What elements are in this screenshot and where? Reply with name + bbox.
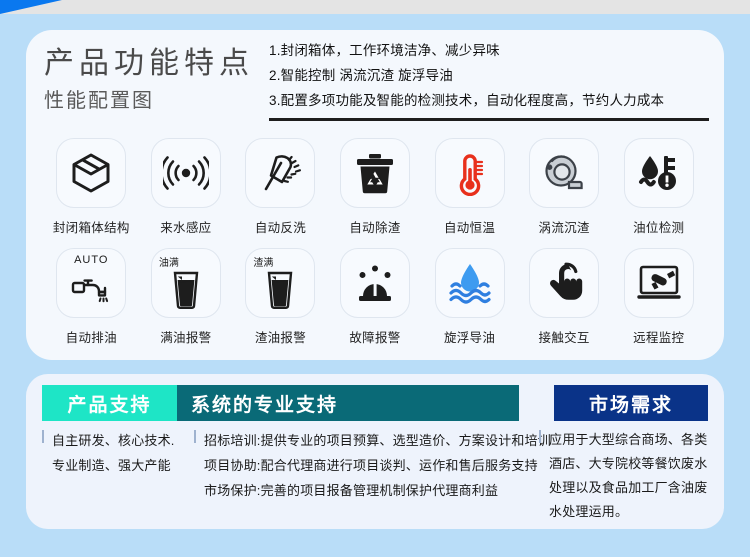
feature-tile[interactable]: AUTO <box>56 248 126 318</box>
feature-tile[interactable] <box>56 138 126 208</box>
card-header: 产品功能特点 性能配置图 1.封闭箱体，工作环境洁净、减少异味 2.智能控制 涡… <box>26 30 724 136</box>
support-columns: 自主研发、核心技术. 专业制造、强大产能 招标培训:提供专业的项目预算、选型造价… <box>42 428 714 523</box>
monitor-camera-icon <box>636 263 682 303</box>
feature-item[interactable]: 自动除渣 <box>340 138 410 248</box>
band-gap <box>519 385 554 421</box>
page-background: 产品功能特点 性能配置图 1.封闭箱体，工作环境洁净、减少异味 2.智能控制 涡… <box>0 0 750 557</box>
column-marker <box>42 430 44 443</box>
feature-tile[interactable] <box>435 248 505 318</box>
feature-tile[interactable] <box>529 138 599 208</box>
bullet-item: 1.封闭箱体，工作环境洁净、减少异味 <box>269 38 709 63</box>
features-card: 产品功能特点 性能配置图 1.封闭箱体，工作环境洁净、减少异味 2.智能控制 涡… <box>26 30 724 360</box>
feature-tile[interactable]: 渣满 <box>245 248 315 318</box>
bullet-item: 2.智能控制 涡流沉渣 旋浮导油 <box>269 63 709 88</box>
signal-wave-icon <box>163 153 209 193</box>
feature-tile[interactable] <box>340 138 410 208</box>
bullet-underline <box>269 118 709 121</box>
column-marker <box>539 430 541 443</box>
feature-label: 自动恒温 <box>444 217 495 236</box>
feature-item[interactable]: 接触交互 <box>529 248 599 358</box>
column-product-support: 自主研发、核心技术. 专业制造、强大产能 <box>42 428 194 523</box>
column-line: 自主研发、核心技术. <box>52 428 194 453</box>
feature-item[interactable]: 油位检测 <box>624 138 694 248</box>
tile-tag-oil-full: 油满 <box>159 254 179 269</box>
feature-label: 自动除渣 <box>349 217 400 236</box>
column-line: 应用于大型综合商场、各类酒店、大专院校等餐饮废水处理以及食品加工厂含油废水处理运… <box>549 428 714 524</box>
feature-icon-grid: 封闭箱体结构 <box>44 138 706 358</box>
feature-item[interactable]: 自动反洗 <box>245 138 315 248</box>
support-card: 产品支持 系统的专业支持 市场需求 自主研发、核心技术. 专业制造、强大产能 招… <box>26 374 724 529</box>
tile-tag-auto: AUTO <box>57 254 125 266</box>
feature-label: 渣油报警 <box>255 327 306 346</box>
feature-item[interactable]: 渣满 渣油报警 <box>245 248 315 358</box>
feature-item[interactable]: 自动恒温 <box>435 138 505 248</box>
feature-tile[interactable] <box>245 138 315 208</box>
feature-label: 自动排油 <box>66 327 117 346</box>
oil-level-alert-icon <box>636 152 682 194</box>
touch-hand-icon <box>544 261 584 305</box>
box-icon <box>69 151 113 195</box>
feature-tile[interactable] <box>435 138 505 208</box>
recycle-bin-icon <box>354 151 396 195</box>
feature-item[interactable]: 来水感应 <box>151 138 221 248</box>
feature-item[interactable]: AUTO <box>56 248 126 358</box>
tile-tag-residue-full: 渣满 <box>253 254 273 269</box>
feature-item[interactable]: 远程监控 <box>624 248 694 358</box>
feature-label: 故障报警 <box>349 327 400 346</box>
feature-label: 满油报警 <box>160 327 211 346</box>
feature-label: 来水感应 <box>160 217 211 236</box>
faucet-auto-icon <box>69 273 113 305</box>
feature-label: 涡流沉渣 <box>539 217 590 236</box>
feature-tile[interactable]: 油满 <box>151 248 221 318</box>
shower-spray-icon <box>258 151 302 195</box>
feature-item[interactable]: 封闭箱体结构 <box>53 138 130 248</box>
feature-label: 自动反洗 <box>255 217 306 236</box>
feature-item[interactable]: 旋浮导油 <box>435 248 505 358</box>
page-title: 产品功能特点 <box>44 44 254 84</box>
alarm-siren-icon <box>353 262 397 304</box>
thermometer-icon <box>450 150 490 196</box>
bullet-item: 3.配置多项功能及智能的检测技术，自动化程度高，节约人力成本 <box>269 88 709 113</box>
feature-tile[interactable] <box>340 248 410 318</box>
water-droplet-icon <box>447 261 493 305</box>
feature-item[interactable]: 故障报警 <box>340 248 410 358</box>
feature-label: 接触交互 <box>539 327 590 346</box>
full-cup-residue-icon <box>265 271 295 309</box>
column-line: 项目协助:配合代理商进行项目谈判、运作和售后服务支持 <box>204 453 539 478</box>
feature-label: 封闭箱体结构 <box>53 217 130 236</box>
column-line: 专业制造、强大产能 <box>52 453 194 478</box>
column-line: 市场保护:完善的项目报备管理机制保护代理商利益 <box>204 478 539 503</box>
blower-fan-icon <box>541 152 587 194</box>
top-gray-strip <box>0 0 750 14</box>
band-market-demand: 市场需求 <box>554 385 708 421</box>
corner-flag-decoration <box>0 0 62 14</box>
column-system-support: 招标培训:提供专业的项目预算、选型造价、方案设计和培训 项目协助:配合代理商进行… <box>194 428 539 523</box>
feature-tile[interactable] <box>624 138 694 208</box>
feature-label: 油位检测 <box>633 217 684 236</box>
band-system-support: 系统的专业支持 <box>177 385 519 421</box>
feature-tile[interactable] <box>151 138 221 208</box>
feature-item[interactable]: 油满 满油报警 <box>151 248 221 358</box>
column-marker <box>194 430 196 443</box>
full-cup-oil-icon <box>171 271 201 309</box>
support-band-row: 产品支持 系统的专业支持 市场需求 <box>42 385 708 421</box>
column-line: 招标培训:提供专业的项目预算、选型造价、方案设计和培训 <box>204 428 539 453</box>
feature-label: 远程监控 <box>633 327 684 346</box>
band-product-support: 产品支持 <box>42 385 177 421</box>
feature-tile[interactable] <box>529 248 599 318</box>
bullet-list: 1.封闭箱体，工作环境洁净、减少异味 2.智能控制 涡流沉渣 旋浮导油 3.配置… <box>269 38 709 121</box>
feature-tile[interactable] <box>624 248 694 318</box>
page-subtitle: 性能配置图 <box>44 86 254 116</box>
feature-item[interactable]: 涡流沉渣 <box>529 138 599 248</box>
column-market-demand: 应用于大型综合商场、各类酒店、大专院校等餐饮废水处理以及食品加工厂含油废水处理运… <box>539 428 714 523</box>
feature-label: 旋浮导油 <box>444 327 495 346</box>
title-block: 产品功能特点 性能配置图 <box>44 44 254 116</box>
